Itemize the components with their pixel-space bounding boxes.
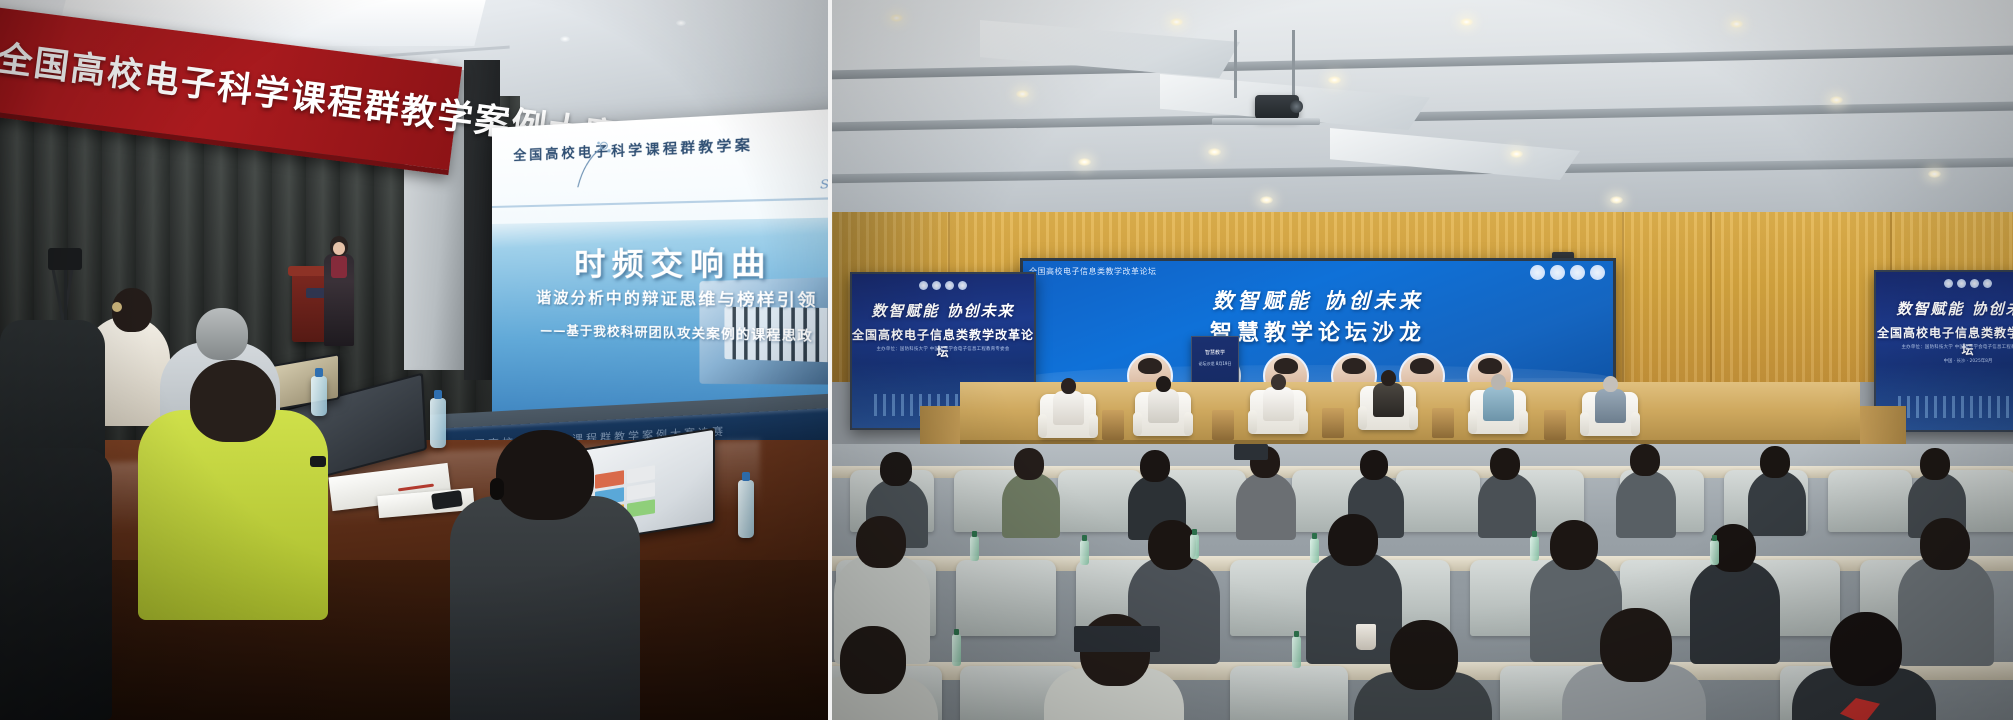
water-bottle: [1190, 534, 1199, 559]
camera-icon: [48, 248, 82, 270]
slide-title: 时频交响曲: [492, 235, 830, 285]
table-front-face: [0, 560, 830, 720]
attendee-body: [1002, 472, 1060, 538]
downlight-icon: [1730, 20, 1743, 28]
projector-lens-icon: [1290, 100, 1303, 113]
led-corner-text: 全国高校电子信息类教学改革论坛: [1029, 266, 1157, 277]
attendee-head: [1630, 444, 1660, 476]
downlight-icon: [890, 14, 903, 22]
led-title-text: 智慧教学论坛沙龙: [1023, 315, 1613, 347]
water-bottle: [952, 634, 961, 666]
attendee-body: [1898, 556, 1994, 666]
stage-panelist: [1135, 374, 1191, 436]
side-banner-title: 全国高校电子信息类教学改革论坛: [852, 326, 1034, 360]
panelist-head: [1156, 376, 1171, 392]
attendee-head: [1490, 448, 1520, 480]
water-bottle: [311, 376, 327, 416]
side-banner-calligraphy: 数智赋能 协创未来: [852, 300, 1034, 321]
rollup-banner-line2: 论坛沙龙 8月19日: [1192, 361, 1238, 367]
side-table: [1102, 410, 1124, 440]
side-banner-logos: [1944, 279, 1992, 288]
cup-icon: [1356, 624, 1376, 650]
panelist-body: [1595, 389, 1626, 423]
attendee-head: [1014, 448, 1044, 480]
watch-icon: [310, 456, 326, 467]
attendee-head: [190, 360, 276, 442]
attendee-head: [1920, 448, 1950, 480]
attendee-body: [1748, 470, 1806, 536]
projector-mount-rod: [1234, 30, 1237, 98]
downlight-icon: [1016, 90, 1029, 98]
org-logo-icon: [1983, 279, 1992, 288]
rollup-banner-line1: 智慧教学: [1192, 349, 1238, 356]
side-table: [1322, 408, 1344, 438]
org-logo-icon: [958, 281, 967, 290]
left-photo-lecture-hall: 全国高校电子科学课程群教学案例大赛决赛 全国高校电子科学课程群教学案 信 Sig…: [0, 0, 830, 720]
water-bottle: [738, 480, 754, 538]
downlight-icon: [1460, 18, 1473, 26]
attendee-head: [1550, 520, 1598, 570]
water-bottle: [430, 398, 446, 448]
water-bottle: [1710, 540, 1719, 565]
presenter-face: [333, 242, 345, 255]
ceiling-spot-light-icon: [676, 20, 686, 26]
org-logo-icon: [945, 281, 954, 290]
audience-seat: [1230, 666, 1348, 720]
org-logo-icon: [1957, 279, 1966, 288]
led-calligraphy-text: 数智赋能 协创未来: [1023, 285, 1613, 315]
audience-seat: [956, 560, 1056, 636]
led-org-logos: [1530, 265, 1605, 280]
panelist-head: [1491, 374, 1506, 390]
attendee-head: [856, 516, 906, 568]
water-bottle: [1530, 536, 1539, 561]
side-banner-subtitle: 主办单位：国防科技大学 中国电子学会电子信息工程教育专委会: [852, 346, 1034, 352]
slide-subtitle: 谐波分析中的辩证思维与榜样引领: [492, 286, 830, 312]
attendee-head: [196, 308, 248, 360]
attendee-head: [496, 430, 594, 520]
attendee-body: [1478, 472, 1536, 538]
downlight-icon: [1610, 196, 1623, 204]
dandelion-icon: [561, 140, 613, 194]
attendee-head: [840, 626, 906, 694]
panelist-head: [1271, 374, 1286, 390]
attendee-body: [450, 496, 640, 720]
attendee-head: [1328, 514, 1378, 566]
panelist-head: [1603, 376, 1618, 392]
attendee-head: [1390, 620, 1458, 690]
attendee-head: [1360, 450, 1388, 480]
audience-seat: [1396, 470, 1480, 532]
laptop: [1234, 444, 1268, 460]
downlight-icon: [1170, 18, 1183, 26]
projection-screen: 全国高校电子科学课程群教学案 信 Signal 时频交响曲 谐波分析中的辩证思维…: [492, 107, 830, 439]
org-logo-icon: [1944, 279, 1953, 288]
downlight-icon: [1328, 76, 1341, 84]
side-banner-subtitle: 主办单位：国防科技大学 中国电子学会电子信息工程教育专委会: [1876, 344, 2013, 350]
stage-panelist: [1582, 374, 1638, 436]
panelist-body: [1373, 383, 1404, 417]
wood-panel-seam: [1622, 212, 1624, 382]
panelist-head: [1381, 370, 1396, 386]
stage-panelist: [1470, 372, 1526, 434]
earphone-icon: [490, 478, 504, 500]
photo-composite: 全国高校电子科学课程群教学案例大赛决赛 全国高校电子科学课程群教学案 信 Sig…: [0, 0, 2013, 720]
attendee-head: [1148, 520, 1196, 570]
laptop: [1074, 626, 1160, 652]
water-bottle: [1310, 538, 1319, 563]
downlight-icon: [1928, 170, 1941, 178]
chair-back: [0, 448, 112, 720]
water-bottle: [970, 536, 979, 561]
attendee-head: [1140, 450, 1170, 482]
attendee-head: [1600, 608, 1672, 682]
right-photo-auditorium: 全国高校电子信息类教学改革论坛 数智赋能 协创未来 智慧教学论坛沙龙 陈国钢 国…: [830, 0, 2013, 720]
org-logo-icon: [1570, 265, 1585, 280]
attendee-body: [1616, 470, 1676, 538]
side-banner-logos: [919, 281, 967, 290]
stage-panelist: [1040, 376, 1096, 438]
water-bottle: [1080, 540, 1089, 565]
stage-side-step: [1852, 406, 1906, 446]
attendee-body: [1236, 472, 1296, 540]
org-logo-icon: [1970, 279, 1979, 288]
projector-mount-rod: [1292, 30, 1295, 98]
projector-mount-plate: [1212, 118, 1320, 125]
side-table: [1212, 410, 1234, 440]
panelist-body: [1148, 389, 1179, 423]
attendee-head: [1760, 446, 1790, 478]
downlight-icon: [1208, 148, 1221, 156]
org-logo-icon: [919, 281, 928, 290]
org-logo-icon: [1590, 265, 1605, 280]
ceiling-spot-light-icon: [560, 36, 570, 42]
attendee-head: [1830, 612, 1902, 686]
side-banner-title: 全国高校电子信息类教学改革论坛: [1876, 324, 2013, 358]
panelist-body: [1053, 391, 1084, 425]
side-table: [1544, 410, 1566, 440]
org-logo-icon: [1550, 265, 1565, 280]
side-table: [1432, 408, 1454, 438]
hair-clip-icon: [112, 302, 122, 312]
attendee-head: [1920, 518, 1970, 570]
water-bottle: [1292, 636, 1301, 668]
presenter-scarf: [331, 256, 347, 278]
photo-divider: [828, 0, 832, 720]
attendee-head: [880, 452, 912, 486]
org-logo-icon: [1530, 265, 1545, 280]
side-banner-calligraphy: 数智赋能 协创未来: [1876, 298, 2013, 319]
org-logo-icon: [932, 281, 941, 290]
stage-panelist: [1250, 372, 1306, 434]
downlight-icon: [1078, 158, 1091, 166]
panelist-body: [1263, 387, 1294, 421]
presenter: [320, 236, 360, 346]
audience-seat: [1828, 470, 1912, 532]
panelist-body: [1483, 387, 1514, 421]
stage-panelist: [1360, 368, 1416, 430]
attendee-body: [1690, 560, 1780, 664]
attendee-body: [1306, 552, 1402, 664]
downlight-icon: [1830, 96, 1843, 104]
panelist-head: [1061, 378, 1076, 394]
downlight-icon: [1510, 150, 1523, 158]
wood-panel-seam: [1710, 212, 1712, 382]
downlight-icon: [1260, 196, 1273, 204]
